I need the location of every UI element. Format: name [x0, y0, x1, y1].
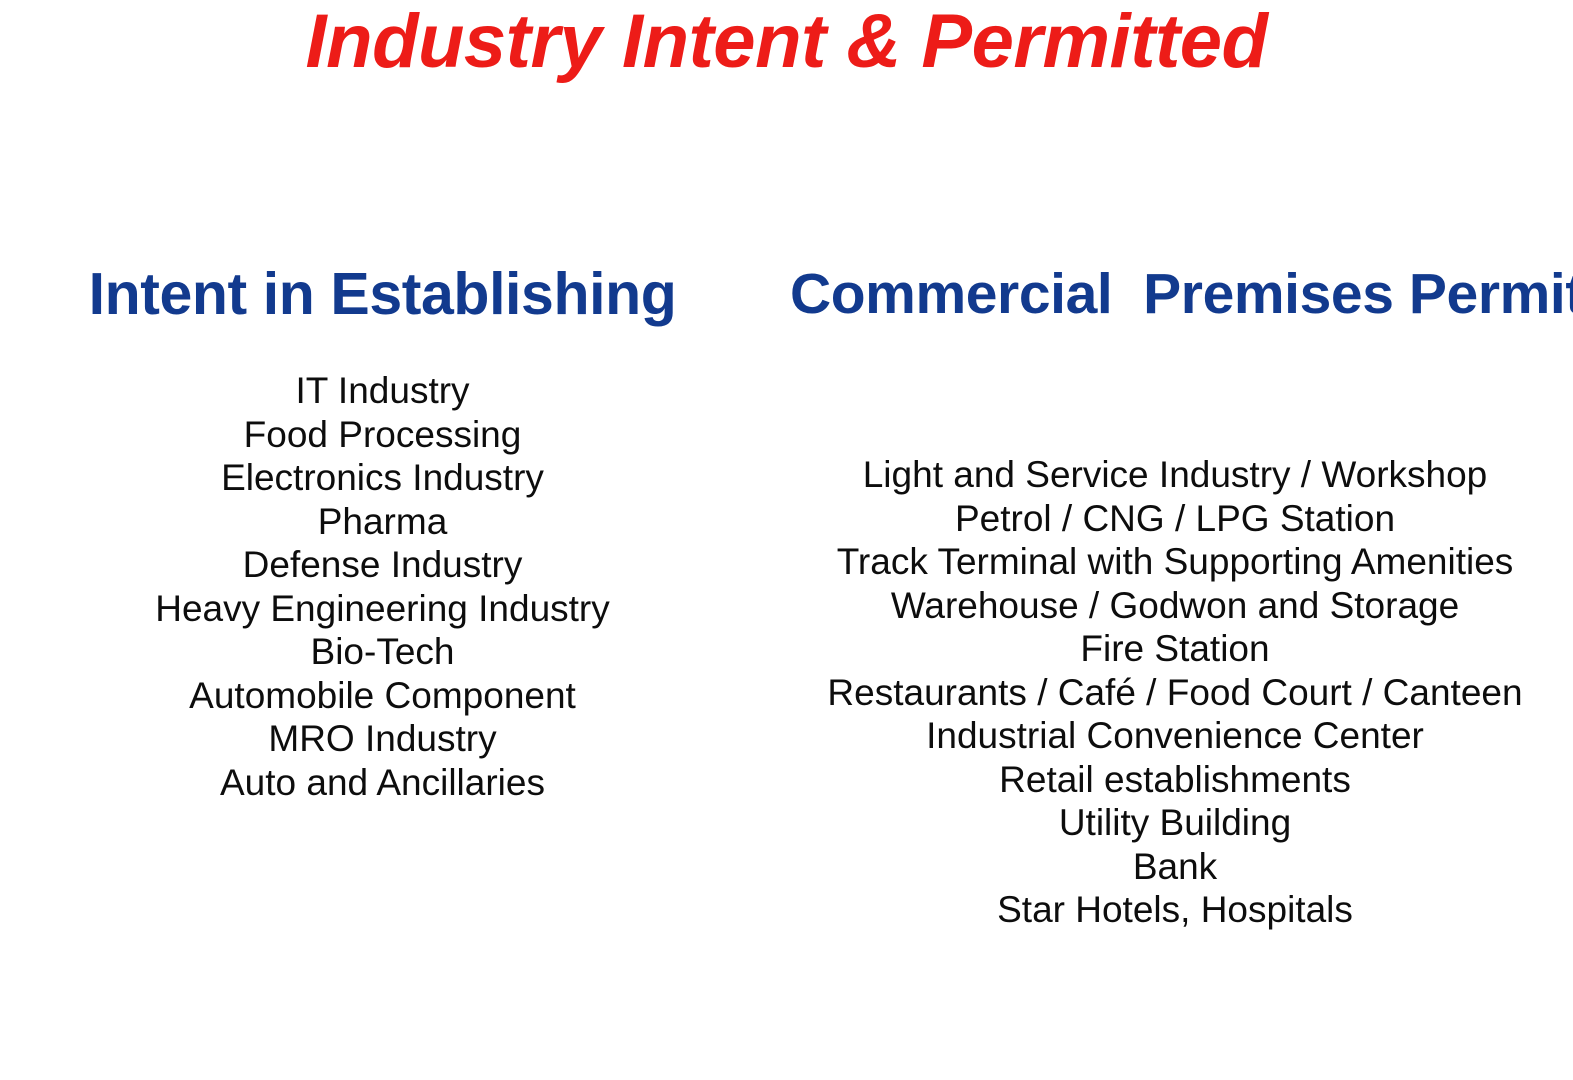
list-item: Pharma — [20, 500, 745, 544]
slide-canvas: Industry Intent & Permitted Intent in Es… — [0, 0, 1573, 1080]
list-item: Fire Station — [790, 627, 1560, 671]
list-item: Industrial Convenience Center — [790, 714, 1560, 758]
list-item: Utility Building — [790, 801, 1560, 845]
left-column-heading: Intent in Establishing — [20, 263, 745, 326]
list-item: Track Terminal with Supporting Amenities — [790, 540, 1560, 584]
list-item: Defense Industry — [20, 543, 745, 587]
list-item: IT Industry — [20, 369, 745, 413]
right-column-heading: Commercial Premises Permitted — [790, 263, 1560, 326]
content-columns: Intent in Establishing IT Industry Food … — [0, 0, 1573, 1080]
list-item: Food Processing — [20, 413, 745, 457]
list-item: Petrol / CNG / LPG Station — [790, 497, 1560, 541]
list-item: Electronics Industry — [20, 456, 745, 500]
intent-list: IT Industry Food Processing Electronics … — [20, 369, 745, 804]
list-item: Bio-Tech — [20, 630, 745, 674]
list-item: Auto and Ancillaries — [20, 761, 745, 805]
list-item: MRO Industry — [20, 717, 745, 761]
list-item: Warehouse / Godwon and Storage — [790, 584, 1560, 628]
list-item: Star Hotels, Hospitals — [790, 888, 1560, 932]
list-item: Retail establishments — [790, 758, 1560, 802]
permitted-list: Light and Service Industry / Workshop Pe… — [790, 453, 1560, 932]
list-item: Restaurants / Café / Food Court / Cantee… — [790, 671, 1560, 715]
list-item: Light and Service Industry / Workshop — [790, 453, 1560, 497]
list-item: Heavy Engineering Industry — [20, 587, 745, 631]
list-item: Bank — [790, 845, 1560, 889]
list-item: Automobile Component — [20, 674, 745, 718]
